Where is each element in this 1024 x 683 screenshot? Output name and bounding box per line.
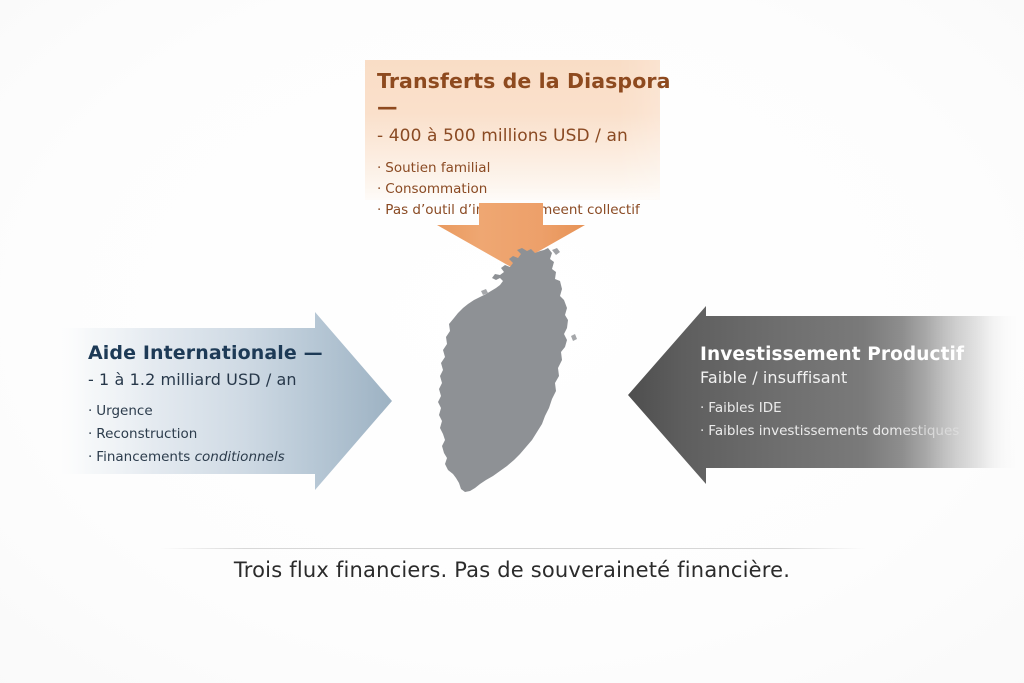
madagascar-islet-east <box>571 334 577 341</box>
investissement-title: Investissement Productif <box>700 342 1010 367</box>
list-item: ·Financements conditionnels <box>88 446 358 469</box>
diaspora-amount: - 400 à 500 millions USD / an <box>377 124 677 148</box>
diaspora-bullet-0: Soutien familial <box>385 160 490 176</box>
investissement-bullet-list: ·Faibles IDE ·Faibles investissements do… <box>700 397 1010 443</box>
aide-bullet-2-plain: Financements <box>96 449 194 465</box>
bullet-dot-icon: · <box>377 181 381 197</box>
diagram-canvas: Transferts de la Diaspora — - 400 à 500 … <box>0 0 1024 683</box>
madagascar-islet-north <box>552 248 560 255</box>
list-item: ·Soutien familial <box>377 158 677 179</box>
caption-divider <box>160 548 866 549</box>
list-item: ·Faibles IDE <box>700 397 1010 420</box>
bullet-dot-icon: · <box>377 202 381 218</box>
bullet-dot-icon: · <box>377 160 381 176</box>
madagascar-silhouette <box>438 248 568 492</box>
list-item: ·Urgence <box>88 400 358 423</box>
diaspora-title: Transferts de la Diaspora — <box>377 68 677 120</box>
investissement-text-block: Investissement Productif Faible / insuff… <box>700 342 1010 443</box>
page-caption: Trois flux financiers. Pas de souveraine… <box>0 558 1024 582</box>
aide-bullet-list: ·Urgence ·Reconstruction ·Financements c… <box>88 400 358 469</box>
list-item: ·Reconstruction <box>88 423 358 446</box>
aide-bullet-1: Reconstruction <box>96 426 197 442</box>
aide-title: Aide Internationale — <box>88 341 358 366</box>
bullet-dot-icon: · <box>700 400 704 416</box>
aide-text-block: Aide Internationale — - 1 à 1.2 milliard… <box>88 341 358 469</box>
diaspora-text-block: Transferts de la Diaspora — - 400 à 500 … <box>377 68 677 221</box>
bullet-dot-icon: · <box>88 426 92 442</box>
diaspora-bullet-1: Consommation <box>385 181 487 197</box>
list-item: ·Consommation <box>377 179 677 200</box>
aide-amount: - 1 à 1.2 milliard USD / an <box>88 368 358 391</box>
investissement-bullet-0: Faibles IDE <box>708 400 781 416</box>
aide-bullet-0: Urgence <box>96 403 152 419</box>
investissement-subtitle: Faible / insuffisant <box>700 367 1010 389</box>
madagascar-map <box>434 248 606 494</box>
investissement-bullet-1: Faibles investissements domestiques <box>708 423 959 439</box>
bullet-dot-icon: · <box>88 403 92 419</box>
bullet-dot-icon: · <box>88 449 92 465</box>
bullet-dot-icon: · <box>700 423 704 439</box>
list-item: ·Faibles investissements domestiques <box>700 420 1010 443</box>
aide-bullet-2-italic: conditionnels <box>195 449 285 465</box>
